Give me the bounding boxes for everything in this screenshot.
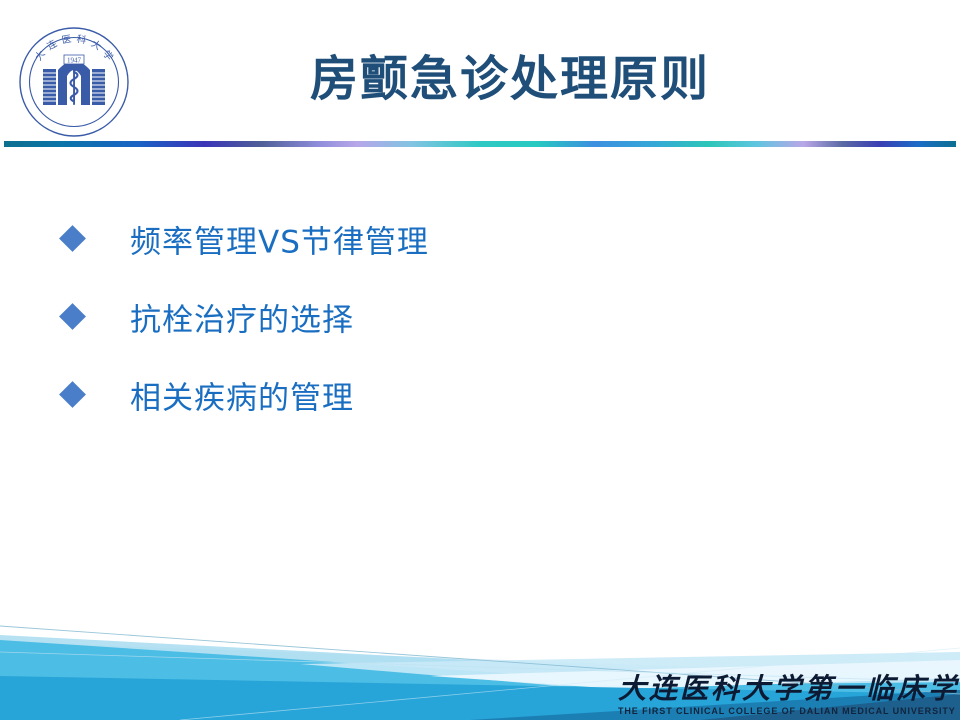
svg-text:科: 科 [76,33,88,47]
university-logo-icon: 大 连 医 科 大 学 D A L I A N M E D [18,26,130,138]
list-item-label: 抗栓治疗的选择 [130,295,354,340]
footer-brand-english: THE FIRST CLINICAL COLLEGE OF DALIAN MED… [618,704,948,718]
list-item-label: 频率管理VS节律管理 [130,217,429,262]
svg-text:医: 医 [61,34,73,47]
list-item[interactable]: 抗栓治疗的选择 [0,278,960,356]
footer-brand-chinese: 大连医科大学第一临床学院 [618,674,948,704]
title-divider [4,141,956,147]
bullet-list: 频率管理VS节律管理 抗栓治疗的选择 相关疾病的管理 [0,200,960,434]
diamond-bullet-icon [59,303,86,330]
presentation-slide: 大 连 医 科 大 学 D A L I A N M E D [0,0,960,720]
diamond-bullet-icon [59,381,86,408]
list-item[interactable]: 频率管理VS节律管理 [0,200,960,278]
page-title: 房颤急诊处理原则 [160,50,860,108]
svg-text:1947: 1947 [67,56,82,64]
footer-branding: 大连医科大学第一临床学院 THE FIRST CLINICAL COLLEGE … [618,674,948,718]
svg-text:大: 大 [89,38,104,53]
diamond-bullet-icon [59,225,86,252]
slide-header: 大 连 医 科 大 学 D A L I A N M E D [0,0,960,145]
list-item-label: 相关疾病的管理 [130,373,354,418]
svg-text:连: 连 [45,37,60,52]
list-item[interactable]: 相关疾病的管理 [0,356,960,434]
